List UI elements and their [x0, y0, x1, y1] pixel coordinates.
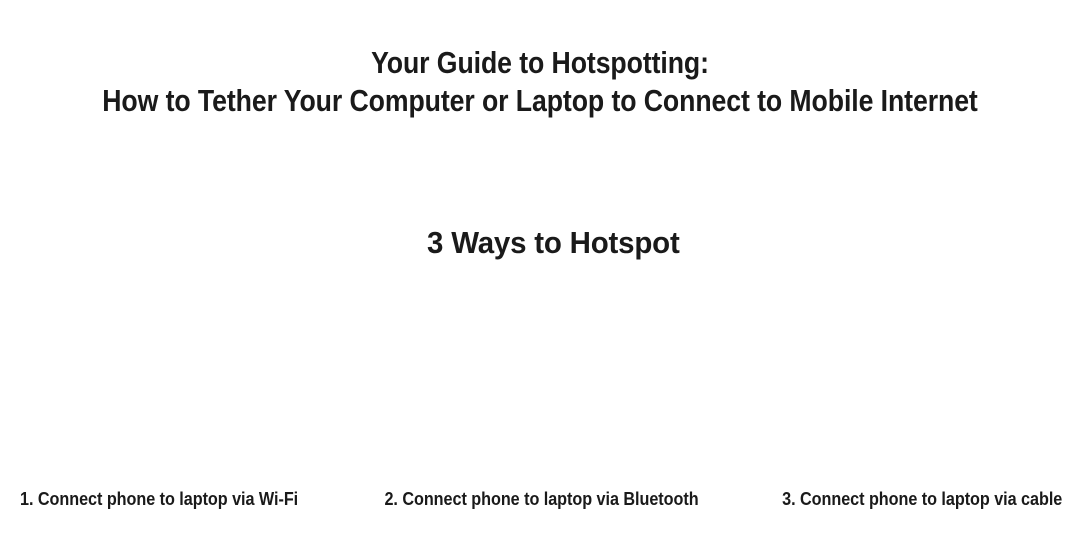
step-item-1: 1. Connect phone to laptop via Wi-Fi [0, 488, 367, 514]
page-title: Your Guide to Hotspotting: How to Tether… [0, 44, 1080, 120]
infographic-page: Your Guide to Hotspotting: How to Tether… [0, 0, 1080, 552]
step-item-2: 2. Connect phone to laptop via Bluetooth [367, 488, 716, 514]
step-caption-row: 1. Connect phone to laptop via Wi-Fi 2. … [0, 488, 1080, 514]
illustration-slot-bluetooth [360, 290, 720, 480]
step-item-3: 3. Connect phone to laptop via cable [716, 488, 1080, 514]
page-title-line-1: Your Guide to Hotspotting: [76, 44, 1005, 82]
illustration-band [0, 290, 1080, 480]
step-caption-3: 3. Connect phone to laptop via cable [782, 488, 1062, 510]
step-caption-1: 1. Connect phone to laptop via Wi-Fi [20, 488, 298, 510]
step-caption-2: 2. Connect phone to laptop via Bluetooth [384, 488, 698, 510]
section-heading: 3 Ways to Hotspot [40, 224, 1066, 262]
page-title-line-2: How to Tether Your Computer or Laptop to… [76, 82, 1005, 120]
illustration-slot-cable [720, 290, 1080, 480]
illustration-slot-wifi [0, 290, 360, 480]
